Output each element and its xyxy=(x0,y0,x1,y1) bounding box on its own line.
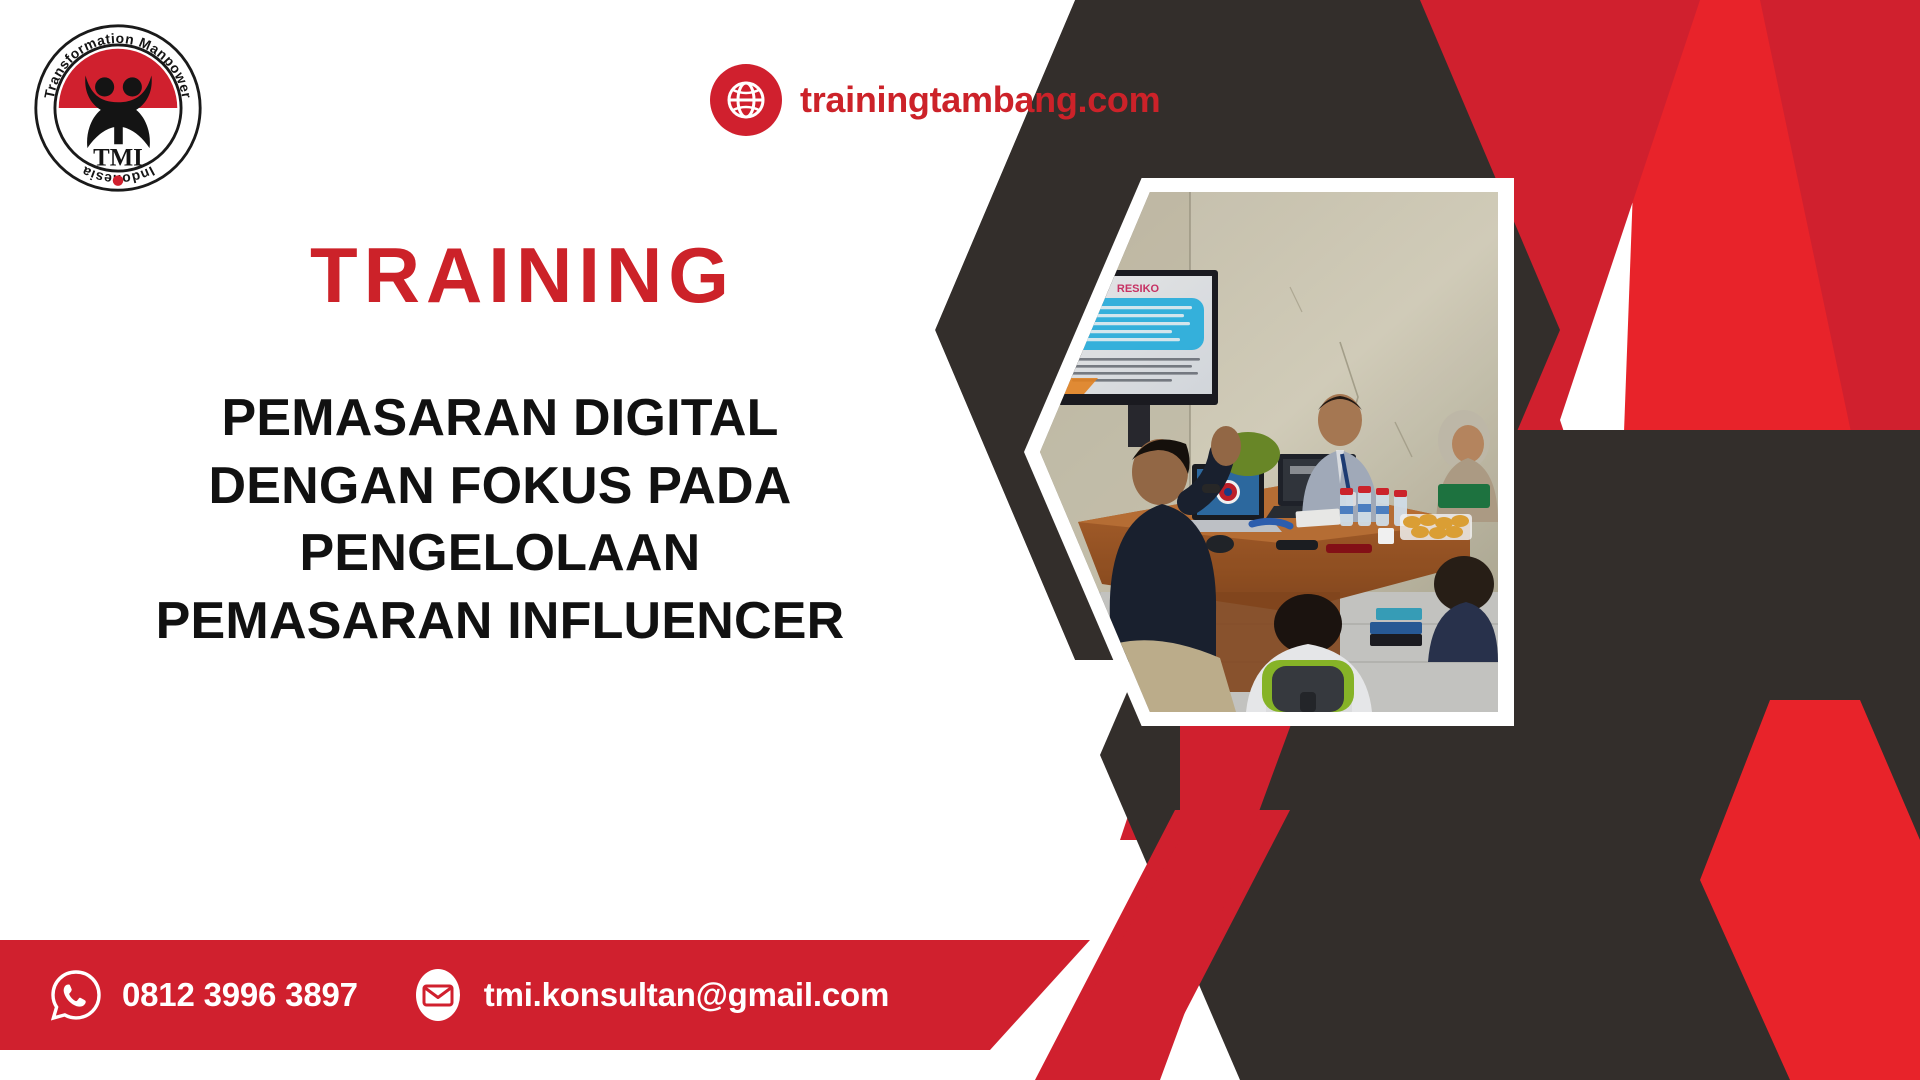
website-url[interactable]: trainingtambang.com xyxy=(800,79,1160,121)
red-chevron-right-lower xyxy=(1700,700,1920,1080)
training-photo: RESIKO xyxy=(1040,192,1498,712)
whatsapp-contact[interactable]: 0812 3996 3897 xyxy=(48,967,358,1023)
website-row[interactable]: trainingtambang.com xyxy=(710,64,1160,136)
photo-frame: RESIKO xyxy=(1024,178,1514,726)
tmi-logo-badge-icon: TMI Transformation Manpower Indonesia xyxy=(28,22,208,194)
title-line-4: PEMASARAN INFLUENCER xyxy=(50,588,950,656)
svg-text:TMI: TMI xyxy=(93,144,143,171)
envelope-icon xyxy=(410,967,466,1023)
phone-number[interactable]: 0812 3996 3897 xyxy=(122,976,358,1014)
banner-canvas: TMI Transformation Manpower Indonesia tr… xyxy=(0,0,1920,1080)
page-title: PEMASARAN DIGITAL DENGAN FOKUS PADA PENG… xyxy=(50,385,950,655)
training-photo-illustration: RESIKO xyxy=(1040,192,1498,712)
kicker-training: TRAINING xyxy=(310,236,735,314)
red-wedge-mid-left xyxy=(1040,700,1300,1080)
red-accent-stripe xyxy=(1620,0,1920,1080)
title-line-2: DENGAN FOKUS PADA xyxy=(50,453,950,521)
whatsapp-icon xyxy=(48,967,104,1023)
globe-icon xyxy=(710,64,782,136)
email-address[interactable]: tmi.konsultan@gmail.com xyxy=(484,976,889,1014)
tmi-logo: TMI Transformation Manpower Indonesia xyxy=(28,22,208,194)
email-contact[interactable]: tmi.konsultan@gmail.com xyxy=(410,967,889,1023)
contact-bar: 0812 3996 3897 tmi.konsultan@gmail.com xyxy=(0,940,1090,1050)
title-line-1: PEMASARAN DIGITAL xyxy=(50,385,950,453)
red-panel-far-right xyxy=(1620,0,1920,1080)
title-line-3: PENGELOLAAN xyxy=(50,520,950,588)
